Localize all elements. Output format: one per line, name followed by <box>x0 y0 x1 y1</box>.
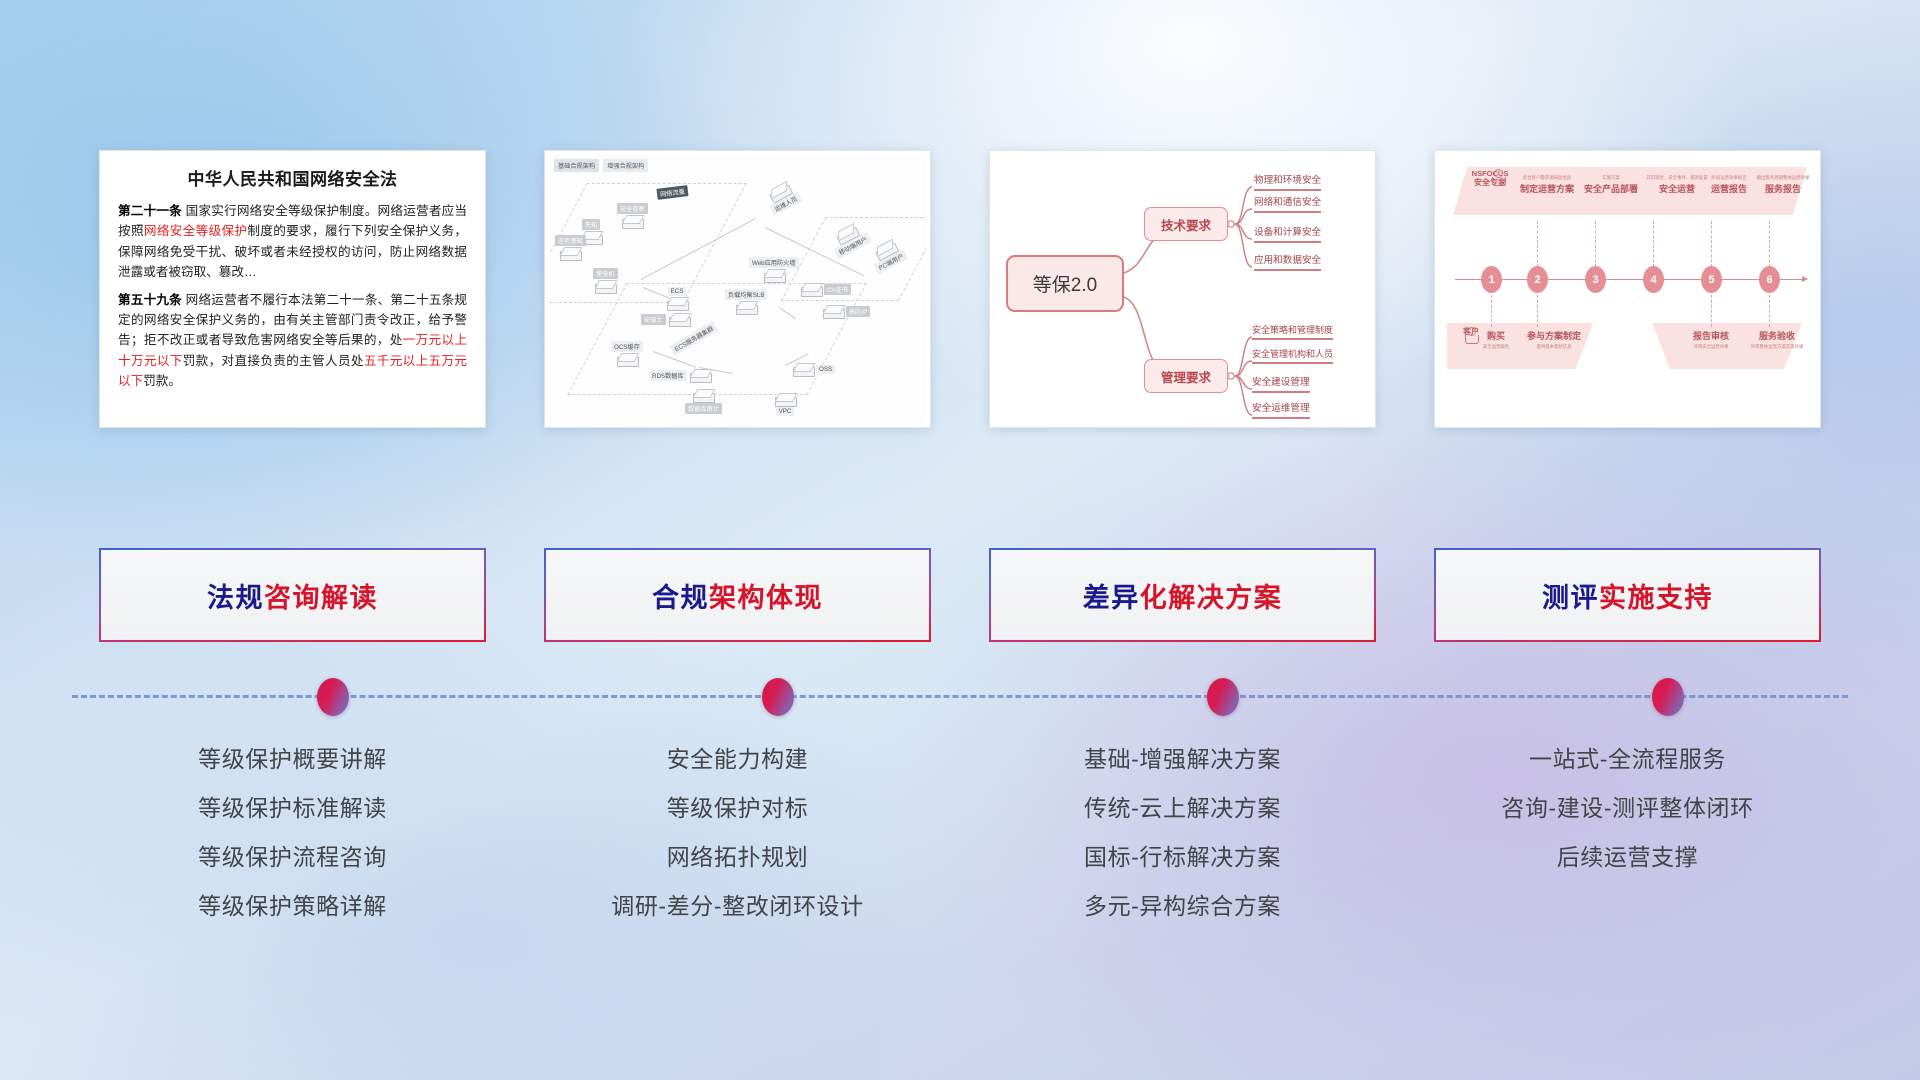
cloud-node-security-butler: 安全管家 <box>617 203 648 228</box>
timeline-axis <box>1455 279 1807 280</box>
timeline-step-title: 购买 <box>1475 329 1517 342</box>
preview-cards-row: 中华人民共和国网络安全法 第二十一条 国家实行网络安全等级保护制度。网络运营者应… <box>0 150 1920 450</box>
list-item[interactable]: 等级保护概要讲解 <box>99 735 486 784</box>
timeline-marker-2[interactable] <box>762 678 794 716</box>
server-box-icon <box>823 305 843 318</box>
law-title: 中华人民共和国网络安全法 <box>118 165 467 190</box>
timeline-tick-1b <box>1491 295 1492 327</box>
section-header-regulation-consulting[interactable]: 法规咨询解读 <box>99 548 486 642</box>
cloud-node-label: OCS缓存 <box>611 341 643 352</box>
db-box-icon <box>690 369 710 382</box>
section-header-title-blue: 合规 <box>652 583 709 613</box>
section-header-differentiated-solution[interactable]: 差异化解决方案 <box>989 548 1376 642</box>
cloud-node-oss: OSS <box>793 363 835 376</box>
section-header-title-blue: 差异 <box>1083 583 1140 613</box>
timeline-node-2: 2 <box>1527 266 1548 293</box>
law-text-59b: 罚款，对直接负责的主管人员处 <box>183 354 364 368</box>
section-header-inner: 法规咨询解读 <box>101 550 483 639</box>
storage-box-icon <box>793 363 813 376</box>
timeline-step-sub: 输出服务周期整体运营效果 <box>1735 175 1816 181</box>
timeline-tick-5b <box>1711 295 1712 327</box>
cloud-node-waf: Web应用防火墙 <box>749 257 799 282</box>
server-box-icon <box>667 297 687 310</box>
cloud-tab-bar: 基础合规架构 增强合规架构 <box>554 159 648 172</box>
cloud-tab-basic[interactable]: 基础合规架构 <box>554 159 599 172</box>
list-item[interactable]: 安全能力构建 <box>544 735 931 784</box>
list-item[interactable]: 等级保护标准解读 <box>99 784 486 833</box>
server-box-icon <box>764 269 784 282</box>
mindmap-leaf-ops-mgmt: 安全运维管理 <box>1252 403 1310 419</box>
cloud-node-ops-staff: 运维人员 <box>763 179 802 216</box>
items-column-differentiated-solution: 基础-增强解决方案 传统-云上解决方案 国标-行标解决方案 多元-异构综合方案 <box>989 735 1376 931</box>
section-timeline <box>72 695 1848 699</box>
section-header-inner: 合规架构体现 <box>546 550 928 639</box>
timeline-step-sub: 提供基本现状信息 <box>1517 344 1591 350</box>
section-header-title-red: 咨询解读 <box>264 583 378 613</box>
server-box-icon <box>595 280 615 293</box>
timeline-node-1: 1 <box>1481 266 1502 293</box>
server-box-icon <box>801 283 821 296</box>
server-box-icon <box>669 313 689 326</box>
law-article-number-59: 第五十九条 <box>118 293 182 307</box>
mindmap-leaf-org-personnel: 安全管理机构和人员 <box>1252 349 1333 364</box>
db-box-icon <box>693 389 713 402</box>
list-item[interactable]: 一站式-全流程服务 <box>1434 735 1821 784</box>
server-box-icon <box>560 247 580 260</box>
mindmap-diagram: 等保2.0 技术要求 管理要求 物理和环境安全 网络和通信安全 设备和计算安全 <box>994 155 1371 423</box>
timeline-tick-2b <box>1537 295 1538 327</box>
timeline-step-sub: 评审整体运营方案实施效果 <box>1735 344 1816 350</box>
cloud-tab-enhanced[interactable]: 增强合规架构 <box>603 159 648 172</box>
timeline-tick-4 <box>1653 221 1654 267</box>
timeline-node-6: 6 <box>1759 266 1780 293</box>
cloud-node-ca-cert: CA证书 <box>801 283 851 296</box>
timeline-step-bottom-2: 参与方案制定 提供基本现状信息 <box>1517 329 1591 351</box>
list-item[interactable]: 后续运营支撑 <box>1434 833 1821 882</box>
vpc-box-icon <box>775 393 795 406</box>
card-mindmap-dengbao[interactable]: 等保2.0 技术要求 管理要求 物理和环境安全 网络和通信安全 设备和计算安全 <box>989 150 1376 428</box>
server-box-icon <box>736 301 756 314</box>
law-article-number-21: 第二十一条 <box>118 204 182 218</box>
cloud-diagram: 基础合规架构 增强合规架构 网络流量 安全管家 先知 <box>549 155 926 423</box>
mindmap-leaf-device-compute: 设备和计算安全 <box>1254 227 1321 243</box>
cloud-node-anti-ddos-ip: 高防IP <box>823 305 870 318</box>
law-paragraph-21: 第二十一条 国家实行网络安全等级保护制度。网络运营者应当按照网络安全等级保护制度… <box>118 201 467 283</box>
timeline-marker-3[interactable] <box>1207 678 1239 716</box>
list-item[interactable]: 等级保护对标 <box>544 784 931 833</box>
timeline-tick-6b <box>1769 295 1770 327</box>
timeline-step-title: 参与方案制定 <box>1517 329 1591 342</box>
cloud-node-situational-awareness: 态势感知 <box>555 235 586 260</box>
timeline-node-3: 3 <box>1585 266 1606 293</box>
cloud-node-ecs: ECS <box>667 287 687 310</box>
timeline-tick-5 <box>1711 221 1712 267</box>
cloud-node-label: 负载均衡SLB <box>725 289 767 300</box>
cloud-node-bastion-host: 堡垒机 <box>593 268 618 293</box>
section-header-title-red: 化解决方案 <box>1140 583 1283 613</box>
card-cloud-architecture[interactable]: 基础合规架构 增强合规架构 网络流量 安全管家 先知 <box>544 150 931 428</box>
section-header-title: 法规咨询解读 <box>207 576 378 615</box>
section-items-row: 等级保护概要讲解 等级保护标准解读 等级保护流程咨询 等级保护策略详解 安全能力… <box>0 735 1920 931</box>
section-headers-row: 法规咨询解读 合规架构体现 差异化解决方案 测评实施支持 <box>0 548 1920 644</box>
cloud-node-label: 高防IP <box>846 306 870 317</box>
timeline-tick-6 <box>1769 221 1770 267</box>
items-column-regulation-consulting: 等级保护概要讲解 等级保护标准解读 等级保护流程咨询 等级保护策略详解 <box>99 735 486 931</box>
list-item[interactable]: 等级保护策略详解 <box>99 882 486 931</box>
cloud-node-label: 堡垒机 <box>593 268 618 279</box>
cloud-node-label: 安全管家 <box>617 203 648 214</box>
cache-box-icon <box>617 353 637 366</box>
mindmap-leaf-policy-system: 安全策略和管理制度 <box>1252 325 1333 340</box>
service-timeline-diagram: NSFOCUS 安全专家 客户 结合客户需求调研后出具 制定运营方案 实施方案 … <box>1439 155 1816 423</box>
timeline-marker-1[interactable] <box>317 678 349 716</box>
section-header-title: 合规架构体现 <box>652 576 823 615</box>
section-header-title-blue: 测评 <box>1542 583 1599 613</box>
timeline-step-title: 服务报告 <box>1735 182 1816 195</box>
section-header-title-red: 架构体现 <box>709 583 823 613</box>
law-paragraph-59: 第五十九条 网络运营者不履行本法第二十一条、第二十五条规定的网络安全保护义务的，… <box>118 290 467 392</box>
timeline-step-top-6: 输出服务周期整体运营效果 服务报告 <box>1735 175 1816 195</box>
law-text-59c: 罚款。 <box>143 374 181 388</box>
cloud-node-label: 数据库审计 <box>685 403 722 414</box>
section-header-compliance-architecture[interactable]: 合规架构体现 <box>544 548 931 642</box>
timeline-node-5: 5 <box>1701 266 1722 293</box>
cloud-node-label: CA证书 <box>824 284 851 295</box>
timeline-tick-3 <box>1595 221 1596 267</box>
list-item[interactable]: 基础-增强解决方案 <box>989 735 1376 784</box>
cloud-node-slb: 负载均衡SLB <box>725 289 767 314</box>
cloud-node-label: 安骑士 <box>641 314 666 325</box>
cloud-node-label: RDS数据库 <box>649 370 687 381</box>
mindmap-branch-management: 管理要求 <box>1144 359 1228 393</box>
list-item[interactable]: 网络拓扑规划 <box>544 833 931 882</box>
list-item[interactable]: 国标-行标解决方案 <box>989 833 1376 882</box>
cloud-node-label: 态势感知 <box>555 235 586 246</box>
section-header-inner: 差异化解决方案 <box>991 550 1373 639</box>
card-service-timeline[interactable]: NSFOCUS 安全专家 客户 结合客户需求调研后出具 制定运营方案 实施方案 … <box>1434 150 1821 428</box>
section-header-title: 差异化解决方案 <box>1083 576 1283 615</box>
cloud-node-label: 先知 <box>582 219 600 230</box>
list-item[interactable]: 咨询-建设-测评整体闭环 <box>1434 784 1821 833</box>
cloud-node-label: Web应用防火墙 <box>749 257 799 268</box>
cloud-node-ocs-cache: OCS缓存 <box>611 341 643 366</box>
section-header-title-blue: 法规 <box>207 583 264 613</box>
mindmap-leaf-construction-mgmt: 安全建设管理 <box>1252 377 1310 393</box>
card-cybersecurity-law[interactable]: 中华人民共和国网络安全法 第二十一条 国家实行网络安全等级保护制度。网络运营者应… <box>99 150 486 428</box>
law-highlight-21: 网络安全等级保护 <box>144 224 248 238</box>
cloud-node-label: ECS <box>668 287 687 296</box>
timeline-step-bottom-1: 购买 安全运营服务 <box>1475 329 1517 351</box>
cloud-node-db-audit: 数据库审计 <box>685 389 722 414</box>
cloud-node-vpc: VPC <box>775 393 795 416</box>
list-item[interactable]: 等级保护流程咨询 <box>99 833 486 882</box>
timeline-step-bottom-6: 服务验收 评审整体运营方案实施效果 <box>1735 329 1816 351</box>
mindmap-leaf-network-comm: 网络和通信安全 <box>1254 197 1321 213</box>
timeline-node-4: 4 <box>1643 266 1664 293</box>
timeline-step-title: 服务验收 <box>1735 329 1816 342</box>
cloud-node-label: OSS <box>816 365 835 374</box>
timeline-marker-4[interactable] <box>1652 678 1684 716</box>
section-header-assessment-support[interactable]: 测评实施支持 <box>1434 548 1821 642</box>
items-column-compliance-architecture: 安全能力构建 等级保护对标 网络拓扑规划 调研-差分-整改闭环设计 <box>544 735 931 931</box>
cloud-node-anqishi: 安骑士 <box>641 313 689 326</box>
items-column-assessment-support: 一站式-全流程服务 咨询-建设-测评整体闭环 后续运营支撑 <box>1434 735 1821 931</box>
server-box-icon <box>622 215 642 228</box>
mindmap-branch-technical: 技术要求 <box>1144 207 1228 241</box>
section-header-title-red: 实施支持 <box>1599 583 1713 613</box>
timeline-step-sub: 安全运营服务 <box>1475 344 1517 350</box>
list-item[interactable]: 多元-异构综合方案 <box>989 882 1376 931</box>
cloud-node-label: VPC <box>776 407 795 416</box>
section-header-inner: 测评实施支持 <box>1436 550 1818 639</box>
cloud-node-rds: RDS数据库 <box>649 369 710 382</box>
list-item[interactable]: 传统-云上解决方案 <box>989 784 1376 833</box>
mindmap-leaf-app-data: 应用和数据安全 <box>1254 255 1321 271</box>
section-header-title: 测评实施支持 <box>1542 576 1713 615</box>
mindmap-leaf-physical-env: 物理和环境安全 <box>1254 175 1321 191</box>
timeline-tick-2 <box>1537 221 1538 267</box>
list-item[interactable]: 调研-差分-整改闭环设计 <box>544 882 931 931</box>
